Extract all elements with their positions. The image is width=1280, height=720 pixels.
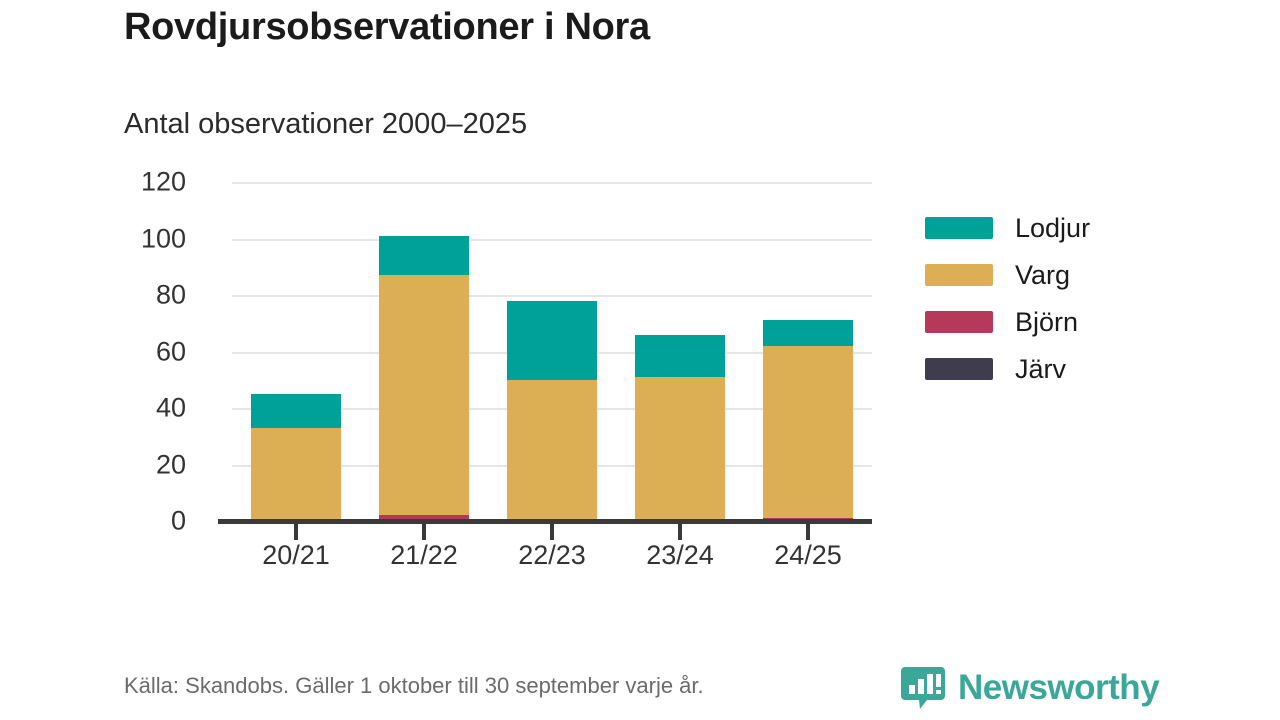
bar-segment-lodjur[interactable] [635, 335, 725, 377]
bar-group [232, 182, 360, 521]
stacked-bar[interactable] [251, 394, 341, 521]
bar-group [488, 182, 616, 521]
bar-group [616, 182, 744, 521]
x-axis-tick-label: 24/25 [728, 540, 888, 571]
y-axis-tick-label: 20 [66, 449, 186, 480]
stacked-bar[interactable] [507, 301, 597, 521]
stacked-bar[interactable] [635, 335, 725, 521]
x-axis-tick-mark [422, 523, 426, 540]
x-axis-tick-mark [294, 523, 298, 540]
y-axis-tick-label: 60 [66, 336, 186, 367]
legend-label: Lodjur [1015, 213, 1090, 244]
chart-legend: LodjurVargBjörnJärv [925, 205, 1090, 393]
bar-segment-lodjur[interactable] [251, 394, 341, 428]
bar-segment-lodjur[interactable] [379, 236, 469, 276]
legend-swatch [925, 358, 993, 380]
x-axis-tick-mark [806, 523, 810, 540]
legend-item-varg[interactable]: Varg [925, 252, 1090, 298]
y-axis-tick-label: 0 [66, 506, 186, 537]
legend-item-lodjur[interactable]: Lodjur [925, 205, 1090, 251]
chart-bars [232, 182, 872, 521]
bar-segment-varg[interactable] [507, 380, 597, 521]
x-axis-tick-mark [550, 523, 554, 540]
legend-item-järv[interactable]: Järv [925, 346, 1090, 392]
bar-segment-varg[interactable] [635, 377, 725, 521]
brand-wordmark: Newsworthy [958, 668, 1159, 708]
legend-swatch [925, 264, 993, 286]
y-axis-tick-label: 100 [66, 223, 186, 254]
bar-group [360, 182, 488, 521]
bar-chart-speech-bubble-icon [900, 665, 946, 711]
legend-swatch [925, 217, 993, 239]
bar-group [744, 182, 872, 521]
bar-segment-varg[interactable] [379, 275, 469, 515]
bar-segment-varg[interactable] [763, 346, 853, 518]
y-axis-tick-label: 120 [66, 167, 186, 198]
x-axis-line [218, 519, 872, 524]
bar-segment-lodjur[interactable] [507, 301, 597, 380]
legend-swatch [925, 311, 993, 333]
stacked-bar[interactable] [379, 236, 469, 521]
source-note: Källa: Skandobs. Gäller 1 oktober till 3… [124, 673, 704, 699]
bar-segment-lodjur[interactable] [763, 320, 853, 345]
y-axis-tick-label: 80 [66, 280, 186, 311]
legend-item-björn[interactable]: Björn [925, 299, 1090, 345]
x-axis-tick-mark [678, 523, 682, 540]
newsworthy-logo: Newsworthy [900, 665, 1159, 711]
legend-label: Björn [1015, 307, 1078, 338]
legend-label: Järv [1015, 354, 1066, 385]
bar-segment-varg[interactable] [251, 428, 341, 521]
legend-label: Varg [1015, 260, 1070, 291]
y-axis-tick-label: 40 [66, 393, 186, 424]
stacked-bar[interactable] [763, 320, 853, 521]
